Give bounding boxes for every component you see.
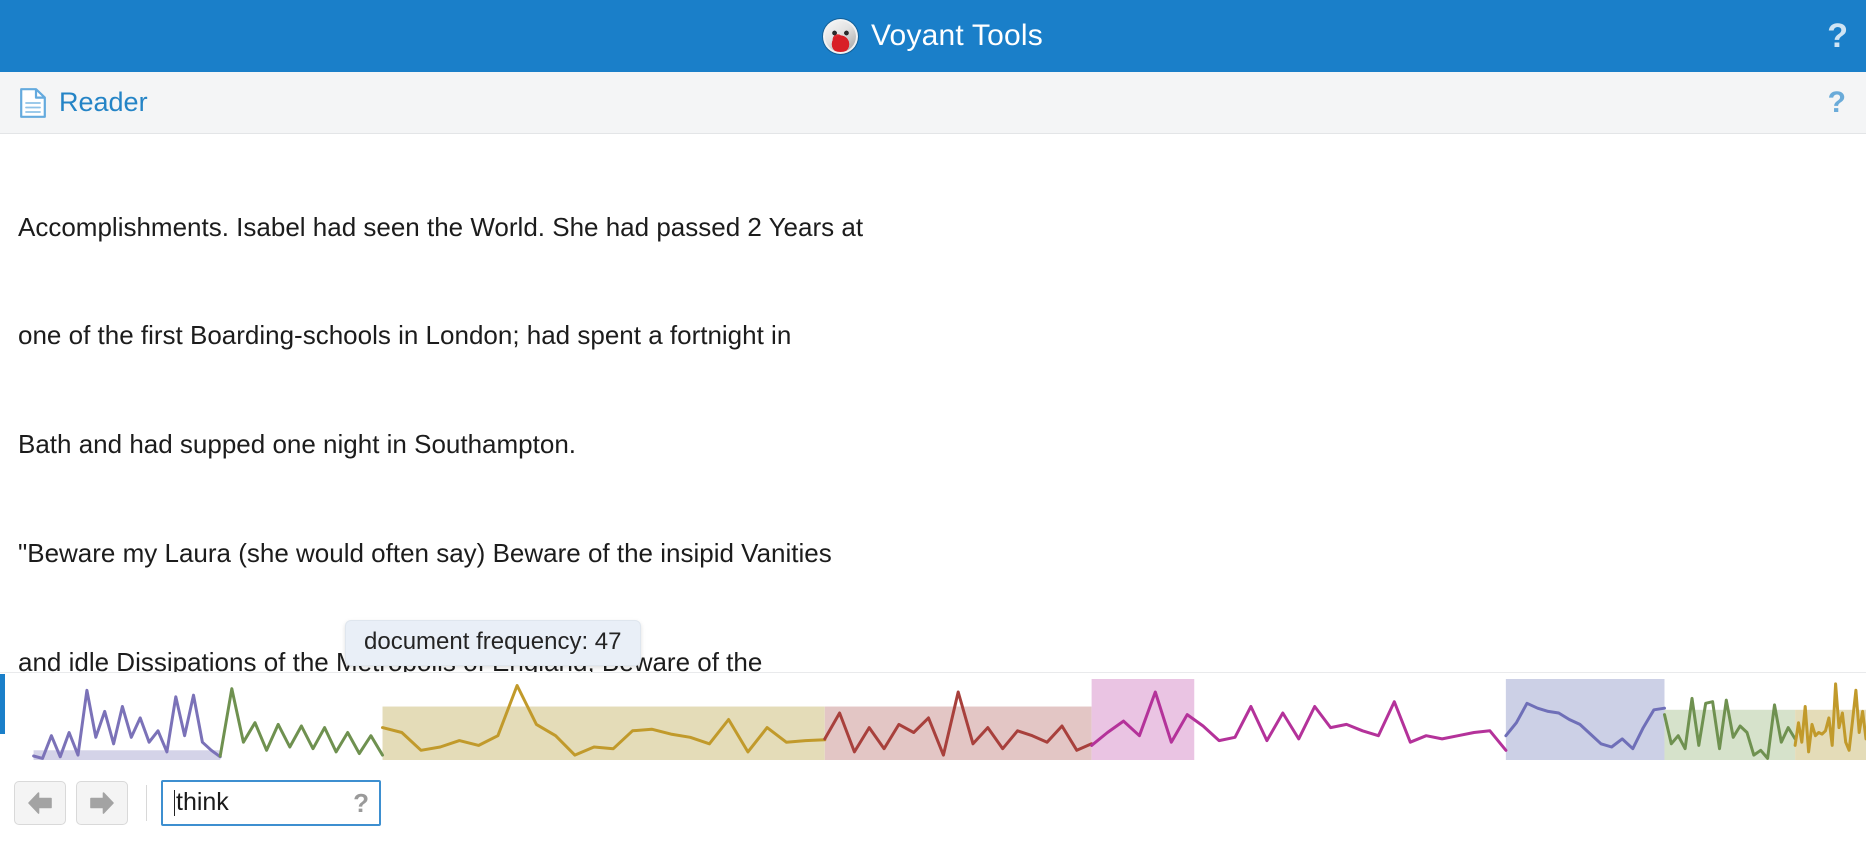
reader-help-icon[interactable]: ?	[1828, 88, 1846, 118]
brand: Voyant Tools	[823, 19, 1043, 54]
document-icon	[20, 88, 46, 118]
reader-position-marker[interactable]	[0, 674, 5, 734]
voyant-logo-icon	[823, 19, 858, 54]
reader-document-text: Accomplishments. Isabel had seen the Wor…	[18, 136, 1118, 672]
search-help-icon[interactable]: ?	[353, 790, 369, 816]
reader-panel-title: Reader	[59, 89, 148, 116]
search-input-wrapper[interactable]: think ?	[161, 780, 381, 826]
app-help-icon[interactable]: ?	[1827, 19, 1848, 53]
sparkline-svg	[0, 673, 1866, 764]
next-button[interactable]	[76, 781, 128, 825]
reader-panel-header-left: Reader	[20, 88, 148, 118]
app-title: Voyant Tools	[871, 21, 1043, 51]
app-header: Voyant Tools ?	[0, 0, 1866, 72]
arrow-right-icon	[87, 790, 117, 816]
toolbar-separator	[146, 785, 147, 821]
voyant-app-window: Voyant Tools ? Reader ? A	[0, 0, 1866, 841]
reader-panel-header: Reader ?	[0, 72, 1866, 134]
reader-line: Accomplishments. Isabel had seen the Wor…	[18, 209, 1118, 245]
arrow-left-icon	[25, 790, 55, 816]
reader-line: Bath and had supped one night in Southam…	[18, 426, 1118, 462]
reader-toolbar: think ?	[0, 764, 1866, 841]
search-input[interactable]: think	[176, 790, 347, 815]
reader-text-area[interactable]: Accomplishments. Isabel had seen the Wor…	[0, 134, 1866, 672]
term-frequency-sparkline[interactable]	[0, 672, 1866, 764]
reader-line: "Beware my Laura (she would often say) B…	[18, 535, 1118, 571]
previous-button[interactable]	[14, 781, 66, 825]
text-caret	[174, 790, 175, 816]
reader-line: one of the first Boarding-schools in Lon…	[18, 317, 1118, 353]
document-frequency-tooltip: document frequency: 47	[345, 620, 641, 666]
